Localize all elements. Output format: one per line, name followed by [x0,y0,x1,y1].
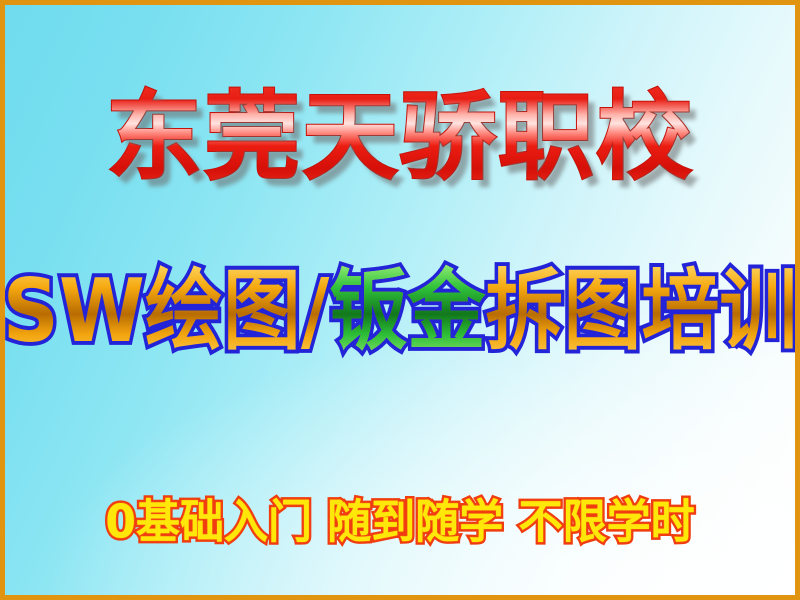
poster-content: 东莞天骄职校 东莞天骄职校 东莞天骄职校 SW绘图/钣金拆图培训 SW绘图/钣金… [5,5,795,595]
course-title-row: SW绘图/钣金拆图培训 SW绘图/钣金拆图培训 [5,257,795,367]
promo-poster: 东莞天骄职校 东莞天骄职校 东莞天骄职校 SW绘图/钣金拆图培训 SW绘图/钣金… [0,0,800,600]
course-title-text: SW绘图/钣金拆图培训 [3,262,798,363]
course-title-accent: 钣金 [329,262,485,363]
tagline-row: 0基础入门 随到随学 不限学时 0基础入门 随到随学 不限学时 [5,493,795,553]
school-title-row: 东莞天骄职校 东莞天骄职校 东莞天骄职校 [5,77,795,197]
school-title-text: 东莞天骄职校 [106,81,694,193]
school-title-wordart: 东莞天骄职校 东莞天骄职校 东莞天骄职校 [106,89,694,185]
course-title-wordart: SW绘图/钣金拆图培训 SW绘图/钣金拆图培训 [3,268,798,355]
course-title-lead: SW绘图/ [3,262,330,363]
tagline-text: 0基础入门 随到随学 不限学时 [105,496,694,550]
course-title-tail: 拆图培训 [485,262,797,363]
tagline-wordart: 0基础入门 随到随学 不限学时 0基础入门 随到随学 不限学时 [105,500,694,546]
